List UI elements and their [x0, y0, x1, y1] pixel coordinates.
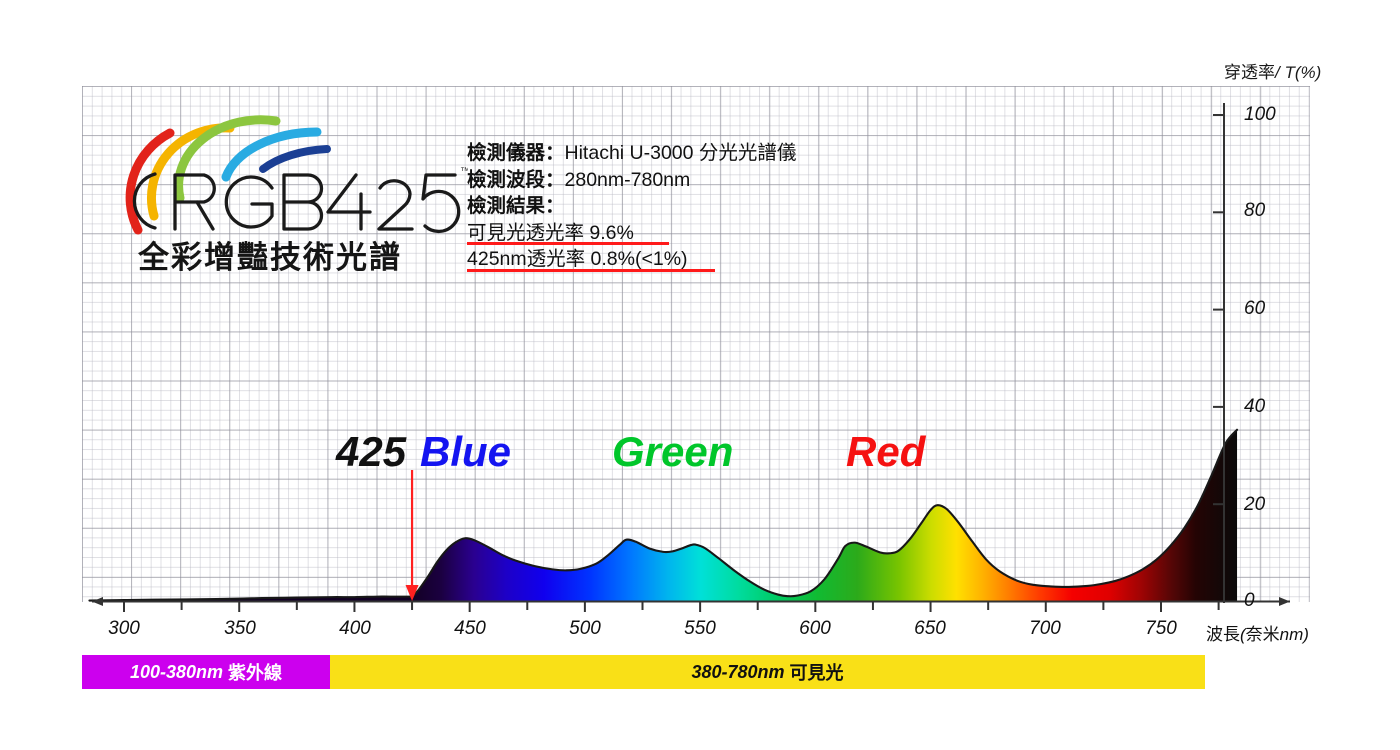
- info-result-label: 檢測結果：: [467, 195, 565, 217]
- legend-visible-label: 可見光: [785, 659, 844, 685]
- x-tick-label-400: 400: [339, 618, 371, 640]
- x-tick-label-300: 300: [108, 618, 140, 640]
- info-instrument-value: Hitachi U-3000 分光光譜儀: [565, 142, 797, 164]
- x-tick-label-550: 550: [684, 618, 716, 640]
- annotation-blue: Blue: [420, 428, 511, 476]
- y-axis-title: 穿透率/ T(%): [1224, 58, 1321, 83]
- spectrum-chart-page: 穿透率/ T(%) 100 80 60 40 20 0 300 350 400 …: [0, 0, 1400, 750]
- x-tick-label-700: 700: [1029, 618, 1061, 640]
- x-axis-ticks: [124, 602, 1219, 613]
- measurement-info-block: 檢測儀器：Hitachi U-3000 分光光譜儀 檢測波段：280nm-780…: [467, 140, 796, 273]
- info-line-425-transmittance: 425nm透光率 0.8%(<1%): [467, 246, 796, 273]
- info-band-label: 檢測波段：: [467, 169, 565, 191]
- info-instrument-label: 檢測儀器：: [467, 142, 565, 164]
- info-band-value: 280nm-780nm: [565, 169, 691, 191]
- logo-arcs-and-wordmark: ™: [118, 112, 468, 237]
- x-axis-title: 波長(奈米nm): [1206, 620, 1309, 645]
- info-line-instrument: 檢測儀器：Hitachi U-3000 分光光譜儀: [467, 140, 796, 167]
- x-tick-label-500: 500: [569, 618, 601, 640]
- x-tick-label-350: 350: [224, 618, 256, 640]
- legend-uv-label: 紫外線: [223, 659, 282, 685]
- x-tick-label-450: 450: [454, 618, 486, 640]
- x-axis-title-unit: nm): [1280, 625, 1309, 644]
- y-tick-label-0: 0: [1244, 590, 1255, 612]
- annotation-425: 425: [336, 428, 406, 476]
- info-line-visible-transmittance: 可見光透光率 9.6%: [467, 220, 796, 247]
- y-tick-label-100: 100: [1244, 104, 1276, 126]
- rgb425-logo: ™ 全彩增豔技術光譜: [118, 112, 468, 292]
- info-line-result-header: 檢測結果：: [467, 193, 796, 220]
- annotation-green: Green: [612, 428, 733, 476]
- legend-bar-visible: 380-780nm可見光: [330, 655, 1205, 689]
- x-tick-label-600: 600: [799, 618, 831, 640]
- x-tick-label-650: 650: [914, 618, 946, 640]
- legend-uv-range: 100-380nm: [130, 662, 223, 683]
- x-axis-title-cjk: 波長: [1206, 625, 1240, 644]
- annotation-red: Red: [846, 428, 925, 476]
- y-tick-label-40: 40: [1244, 396, 1265, 418]
- x-axis-title-cjk2: 奈米: [1246, 625, 1280, 644]
- y-axis-title-unit: / T(%): [1275, 63, 1321, 82]
- logo-subtitle: 全彩增豔技術光譜: [138, 232, 402, 277]
- y-tick-label-80: 80: [1244, 200, 1265, 222]
- y-tick-label-20: 20: [1244, 494, 1265, 516]
- y-tick-label-60: 60: [1244, 298, 1265, 320]
- legend-visible-range: 380-780nm: [691, 662, 784, 683]
- x-tick-label-750: 750: [1145, 618, 1177, 640]
- y-axis-title-cjk: 穿透率: [1224, 63, 1275, 82]
- info-line-band: 檢測波段：280nm-780nm: [467, 167, 796, 194]
- legend-bar-ultraviolet: 100-380nm紫外線: [82, 655, 330, 689]
